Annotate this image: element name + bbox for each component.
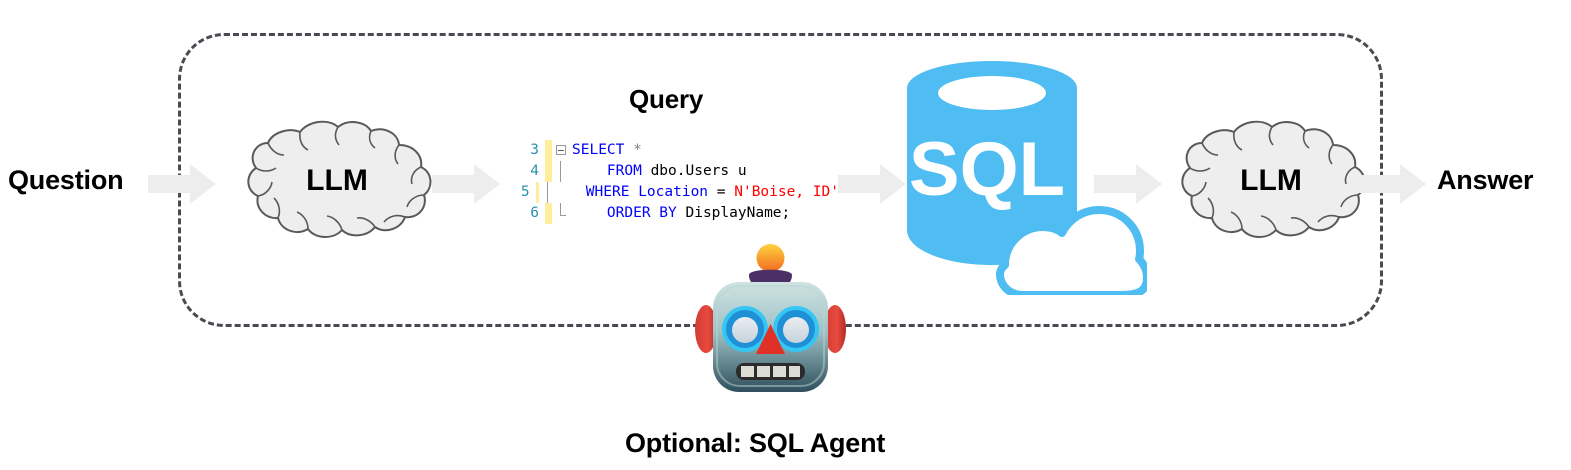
code-token bbox=[629, 184, 638, 200]
code-token: dbo.Users u bbox=[642, 163, 747, 179]
fold-guide-line bbox=[560, 203, 561, 215]
llm-left-label: LLM bbox=[238, 118, 436, 240]
fold-guide-line bbox=[547, 182, 548, 203]
change-bar bbox=[545, 140, 552, 161]
arrow-llm-to-query bbox=[432, 164, 500, 204]
fold-guide bbox=[552, 203, 570, 224]
sql-wordmark: SQL bbox=[909, 127, 1065, 212]
sql-code-block: 3 SELECT * 4 FROM dbo.Users u 5 WHERE Lo… bbox=[519, 140, 839, 240]
code-text: ORDER BY DisplayName; bbox=[570, 203, 790, 224]
arrow-query-to-database bbox=[838, 164, 906, 204]
change-bar bbox=[545, 161, 552, 182]
code-token: WHERE bbox=[586, 184, 630, 200]
arrow-database-to-llm bbox=[1094, 164, 1162, 204]
code-token: DisplayName; bbox=[677, 205, 791, 221]
arrow-llm-to-answer bbox=[1358, 164, 1426, 204]
diagram-canvas: Question LLM bbox=[0, 0, 1571, 470]
code-token: * bbox=[633, 142, 642, 158]
code-text: SELECT * bbox=[570, 140, 642, 161]
line-number: 3 bbox=[519, 140, 541, 161]
fold-guide-line bbox=[560, 161, 561, 182]
code-line: 3 SELECT * bbox=[519, 140, 839, 161]
code-token bbox=[624, 142, 633, 158]
question-label: Question bbox=[8, 165, 123, 196]
code-line: 5 WHERE Location = N'Boise, ID' bbox=[519, 182, 839, 203]
line-number: 6 bbox=[519, 203, 541, 224]
code-line: 6 ORDER BY DisplayName; bbox=[519, 203, 839, 224]
code-token: ORDER BY bbox=[607, 205, 677, 221]
llm-right-label: LLM bbox=[1172, 118, 1370, 240]
code-token: SELECT bbox=[572, 142, 624, 158]
code-token: = bbox=[708, 184, 734, 200]
fold-guide bbox=[539, 182, 549, 203]
code-text: WHERE Location = N'Boise, ID' bbox=[549, 182, 839, 203]
collapse-icon[interactable] bbox=[556, 145, 566, 155]
code-token: N'Boise, ID' bbox=[734, 184, 839, 200]
fold-guide bbox=[552, 161, 570, 182]
code-token bbox=[551, 184, 586, 200]
answer-label: Answer bbox=[1437, 165, 1533, 196]
code-token: FROM bbox=[607, 163, 642, 179]
line-number: 5 bbox=[519, 182, 532, 203]
change-bar bbox=[545, 203, 552, 224]
line-number: 4 bbox=[519, 161, 541, 182]
robot-icon bbox=[683, 237, 858, 412]
arrow-question-to-llm bbox=[148, 164, 216, 204]
code-line: 4 FROM dbo.Users u bbox=[519, 161, 839, 182]
code-text: FROM dbo.Users u bbox=[570, 161, 747, 182]
llm-node-right: LLM bbox=[1172, 118, 1370, 240]
query-label: Query bbox=[629, 84, 703, 115]
optional-sql-agent-caption: Optional: SQL Agent bbox=[625, 428, 885, 459]
code-token bbox=[572, 205, 607, 221]
fold-guide-foot bbox=[560, 215, 566, 216]
code-token bbox=[572, 163, 607, 179]
code-token: Location bbox=[638, 184, 708, 200]
llm-node-left: LLM bbox=[238, 118, 436, 240]
fold-toggle[interactable] bbox=[552, 140, 570, 161]
